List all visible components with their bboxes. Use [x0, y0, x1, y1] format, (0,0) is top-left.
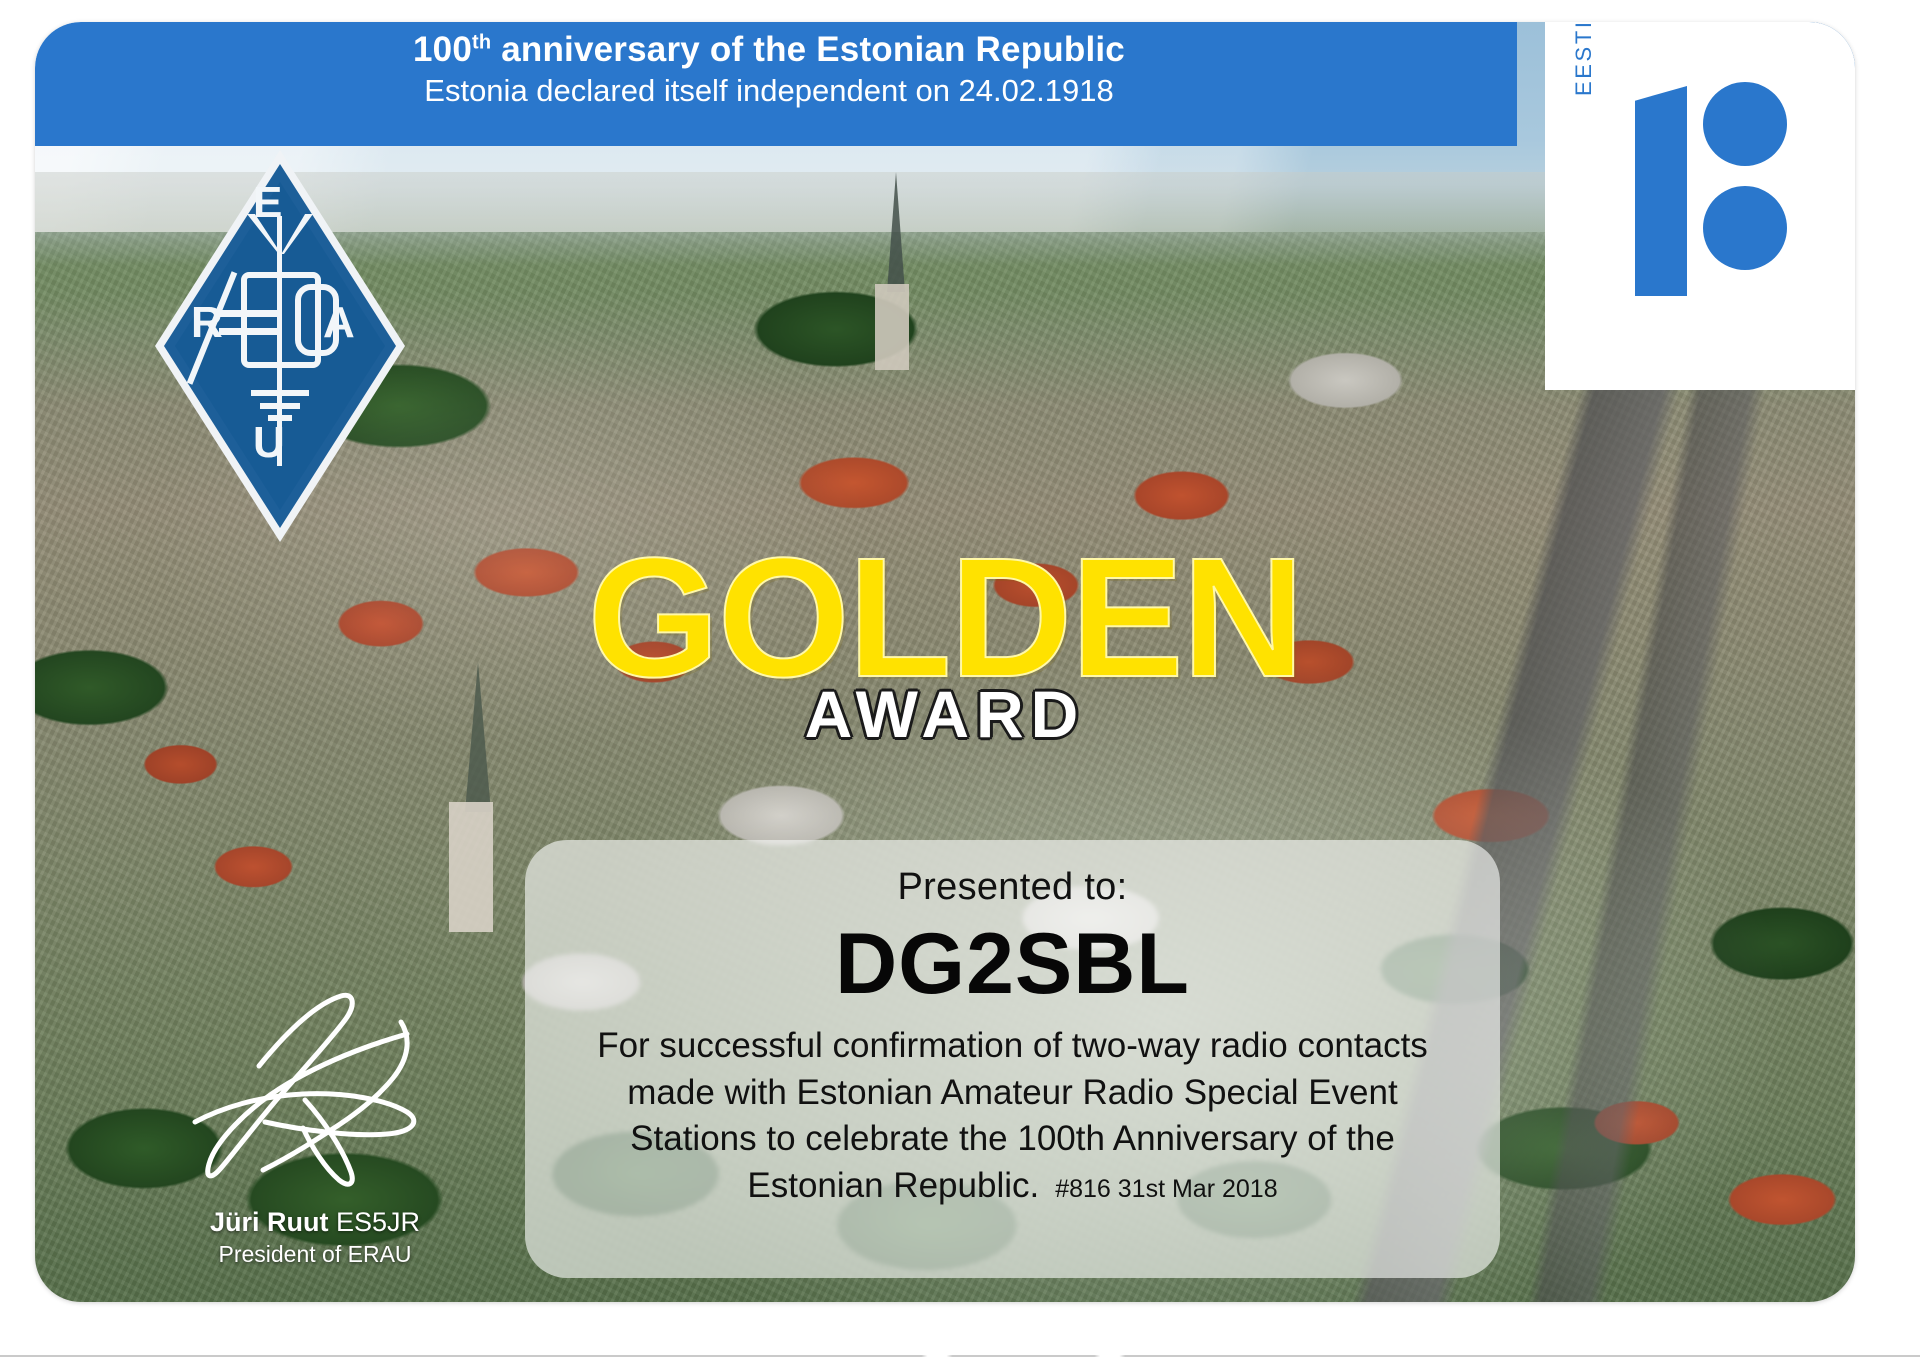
erau-letter-r: R [191, 298, 223, 348]
church-tower-body [449, 802, 493, 932]
signatory-person: Jüri Ruut [210, 1207, 329, 1237]
ev100-digit-zero-icon [1703, 186, 1787, 270]
signature-block: Jüri Ruut ES5JR President of ERAU [145, 982, 485, 1268]
erau-ground-bar [251, 390, 309, 396]
recipient-callsign: DG2SBL [569, 919, 1456, 1009]
erau-key-bar [219, 310, 281, 317]
signatory-callsign: ES5JR [336, 1207, 420, 1237]
citation-text: For successful confirmation of two-way r… [569, 1023, 1456, 1209]
award-serial-and-date: #816 31st Mar 2018 [1039, 1175, 1277, 1203]
ev100-logo-panel: EESTI VABARIIK [1545, 22, 1855, 390]
presented-to-label: Presented to: [569, 866, 1456, 909]
ev100-digit-zero-icon [1703, 82, 1787, 166]
header-title: 100th anniversary of the Estonian Republ… [35, 30, 1503, 70]
eesti-vabariik-label: EESTI VABARIIK [1571, 22, 1597, 96]
church-spire-icon [465, 662, 491, 812]
header-title-rest: anniversary of the Estonian Republic [491, 30, 1125, 69]
signature-icon [155, 982, 475, 1212]
ev100-digit-one-icon [1635, 86, 1687, 296]
citation-body: For successful confirmation of two-way r… [597, 1026, 1428, 1205]
signatory-role: President of ERAU [145, 1241, 485, 1268]
church-tower-body [875, 284, 909, 370]
erau-key-bar [219, 328, 281, 335]
page-root: 100th anniversary of the Estonian Republ… [0, 0, 1920, 1357]
header-text: 100th anniversary of the Estonian Republ… [35, 30, 1517, 109]
header-subtitle: Estonia declared itself independent on 2… [35, 72, 1503, 109]
erau-diamond-logo-icon: E R A U [155, 150, 405, 542]
erau-letter-e: E [253, 178, 282, 228]
church-spire-icon [887, 172, 905, 292]
header-title-number: 100 [413, 30, 472, 69]
erau-ground-bar [260, 403, 300, 409]
erau-letter-a: A [323, 298, 355, 348]
award-details-panel: Presented to: DG2SBL For successful conf… [525, 840, 1500, 1278]
header-title-ordinal: th [472, 31, 491, 53]
award-certificate: 100th anniversary of the Estonian Republ… [35, 22, 1855, 1302]
erau-letter-u: U [253, 418, 285, 468]
